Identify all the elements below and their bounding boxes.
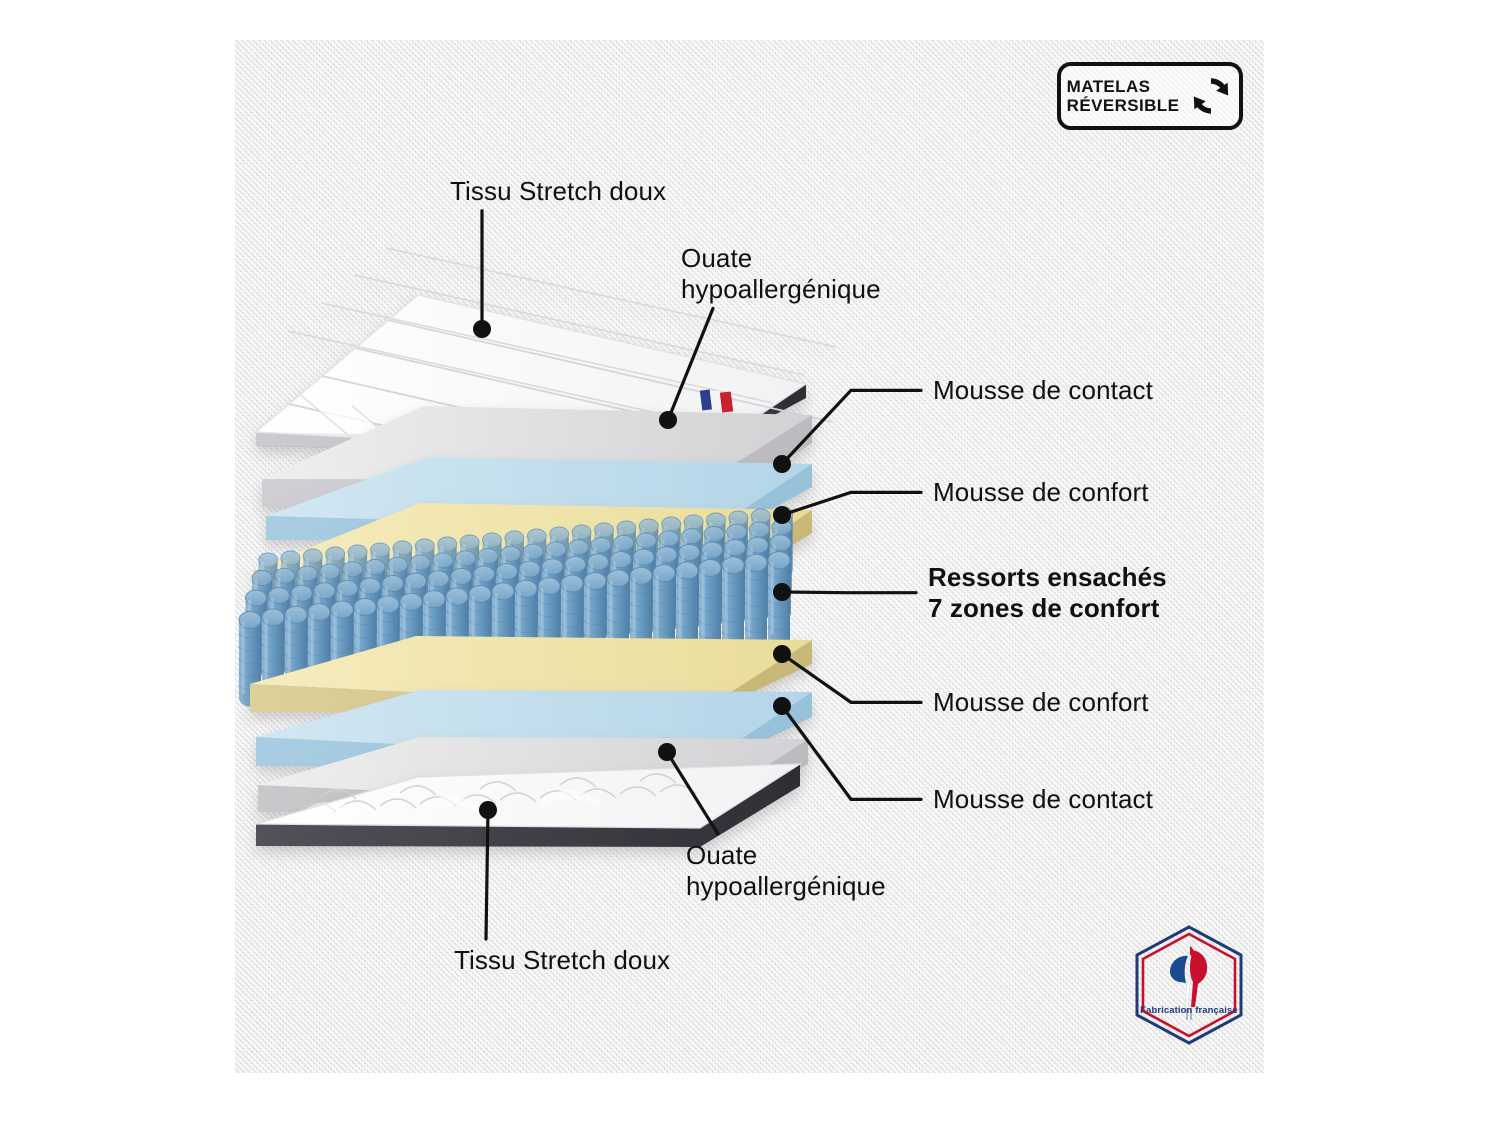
leader-dot-bot-wadding	[658, 743, 676, 761]
leader-dot-top-cover	[473, 320, 491, 338]
callout-label-bot-contact-foam: Mousse de contact	[933, 784, 1153, 815]
leader-dot-top-wadding	[659, 411, 677, 429]
leader-dot-bot-comfort-foam	[773, 645, 791, 663]
leader-line-pocket-springs	[782, 592, 916, 593]
french-manufacturing-badge: Fabrication française	[1128, 922, 1250, 1050]
leader-dot-bot-contact-foam	[773, 697, 791, 715]
callout-label-top-comfort-foam: Mousse de confort	[933, 477, 1149, 508]
callout-label-top-cover: Tissu Stretch doux	[450, 176, 666, 207]
french-flag-tag	[700, 389, 733, 412]
refresh-cycle-icon	[1189, 74, 1233, 118]
pocket-spring	[722, 557, 744, 652]
callout-label-bot-comfort-foam: Mousse de confort	[933, 687, 1149, 718]
reversible-badge-line1: MATELAS	[1067, 77, 1180, 96]
pocket-spring	[745, 554, 767, 649]
leader-dot-top-contact-foam	[773, 455, 791, 473]
reversible-badge-text: MATELAS RÉVERSIBLE	[1067, 77, 1180, 115]
leader-dot-top-comfort-foam	[773, 506, 791, 524]
callout-label-top-wadding: Ouate hypoallergénique	[681, 243, 881, 304]
callout-label-bot-wadding: Ouate hypoallergénique	[686, 840, 886, 901]
leader-dot-pocket-springs	[773, 583, 791, 601]
leader-line-bot-cover	[486, 810, 488, 939]
callout-label-top-contact-foam: Mousse de contact	[933, 375, 1153, 406]
callout-label-pocket-springs: Ressorts ensachés 7 zones de confort	[928, 562, 1167, 623]
french-rooster-hexagon-icon	[1128, 922, 1250, 1050]
reversible-badge: MATELAS RÉVERSIBLE	[1057, 62, 1243, 130]
infographic-stage: MATELAS RÉVERSIBLE Fabrication française…	[0, 0, 1500, 1125]
mattress-layer-stack	[0, 0, 1500, 1125]
leader-dot-bot-cover	[479, 801, 497, 819]
callout-label-bot-cover: Tissu Stretch doux	[454, 945, 670, 976]
reversible-badge-line2: RÉVERSIBLE	[1067, 96, 1180, 115]
french-badge-caption: Fabrication française	[1128, 1005, 1250, 1016]
